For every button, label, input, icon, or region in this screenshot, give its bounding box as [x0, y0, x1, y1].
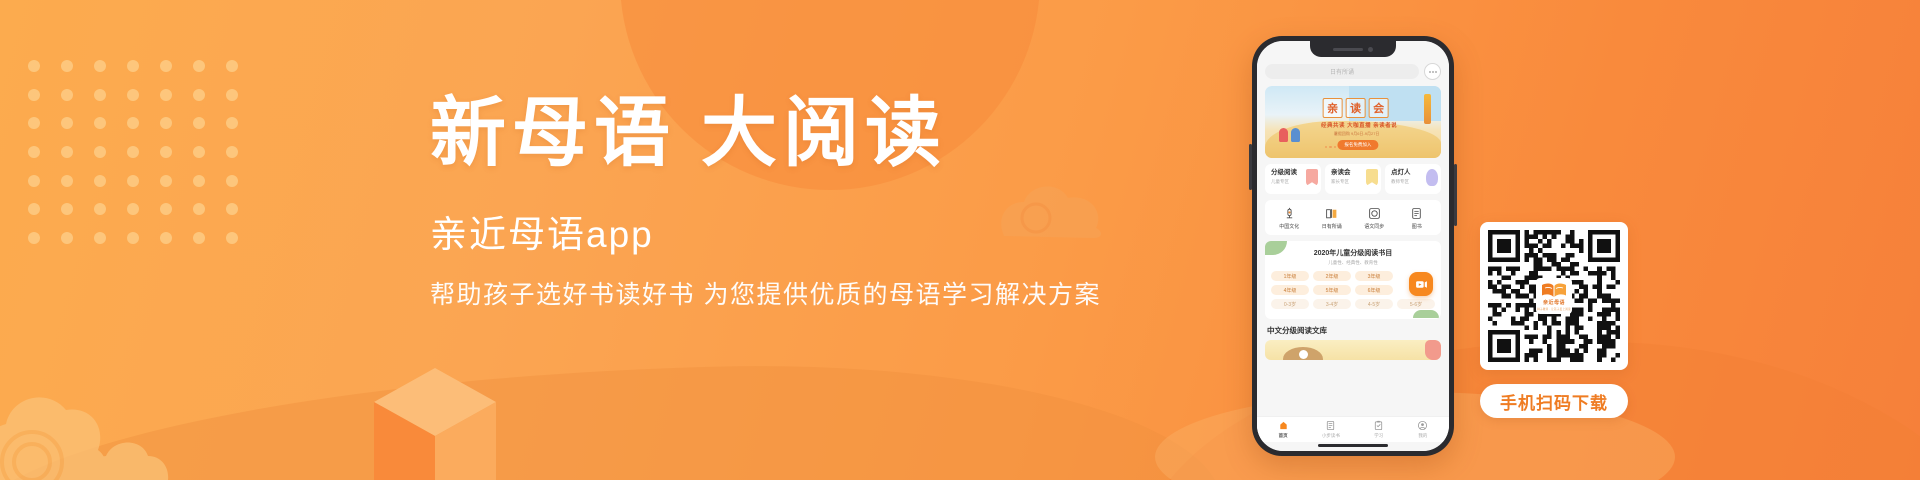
decorative-leaf-bottom — [1413, 310, 1439, 318]
decorative-dot-grid — [18, 52, 248, 252]
promo-banner: 新母语 大阅读 亲近母语app 帮助孩子选好书读好书 为您提供优质的母语学习解决… — [0, 0, 1920, 480]
tab-reading[interactable]: 小步读书 — [1322, 420, 1340, 439]
user-circle-icon — [1417, 420, 1428, 431]
quick-link-daily-recitation[interactable]: 日有所诵 — [1311, 206, 1354, 230]
decorative-wave — [0, 354, 1222, 480]
quick-link-label: 图书 — [1412, 223, 1422, 230]
grade-chip[interactable]: 2年级 — [1313, 271, 1351, 281]
carousel-dots[interactable] — [1325, 146, 1337, 149]
hero-cta-button[interactable]: 报名免费加入 — [1337, 140, 1378, 150]
subheadline: 亲近母语app — [430, 216, 1210, 253]
hero-banner[interactable]: 亲 读 会 经典共读 大咖直播 亲读者说 暑假团购 9月6日-9月27日 报名免… — [1265, 86, 1441, 158]
library-illustration-dot — [1299, 350, 1308, 359]
open-book-icon — [1325, 206, 1339, 220]
age-chip[interactable]: 0-3岁 — [1271, 299, 1309, 309]
tab-label: 小步读书 — [1322, 433, 1340, 439]
tab-study[interactable]: 学习 — [1373, 420, 1384, 439]
home-indicator — [1318, 444, 1388, 447]
tagline: 帮助孩子选好书读好书 为您提供优质的母语学习解决方案 — [430, 283, 1210, 308]
cloud-icon — [0, 366, 202, 480]
zone-card-parent-club[interactable]: 亲读会 家长专区 — [1325, 164, 1381, 194]
quick-link-chinese-culture[interactable]: 中国文化 — [1268, 206, 1311, 230]
hero-char-3: 会 — [1369, 98, 1389, 118]
hero-subtitle: 经典共读 大咖直播 亲读者说 — [1321, 121, 1397, 129]
zone-card-graded-reading[interactable]: 分级阅读 儿童专区 — [1265, 164, 1321, 194]
age-chip[interactable]: 5-6岁 — [1397, 299, 1435, 309]
headline: 新母语 大阅读 — [430, 96, 1210, 172]
list-icon — [1325, 420, 1336, 431]
grade-chip[interactable]: 3年级 — [1355, 271, 1393, 281]
speaker-grille — [1333, 48, 1363, 51]
grade-chip[interactable]: 6年级 — [1355, 285, 1393, 295]
age-chip[interactable]: 4-5岁 — [1355, 299, 1393, 309]
decorative-cube — [370, 360, 500, 480]
phone-notch — [1310, 41, 1396, 57]
app-screen: 日有所诵 亲 读 会 经典共读 大咖直播 亲读者说 — [1257, 41, 1449, 451]
library-card[interactable] — [1265, 340, 1441, 360]
tab-label: 我的 — [1418, 433, 1427, 439]
booklist-card: 2020年儿童分级阅读书目 儿童性、经典性、教育性 1年级 2年级 3年级 4年… — [1265, 241, 1441, 319]
qr-logo-title: 亲近母语 — [1543, 299, 1565, 306]
qr-logo: 亲近母语 种子教师 · 让孩子爱上阅读 — [1536, 278, 1572, 314]
person-purple-icon — [1426, 169, 1438, 186]
phone-screen: 日有所诵 亲 读 会 经典共读 大咖直播 亲读者说 — [1257, 41, 1449, 451]
checklist-icon — [1373, 420, 1384, 431]
tab-label: 学习 — [1374, 433, 1383, 439]
hero-detail: 暑假团购 9月6日-9月27日 — [1334, 131, 1380, 137]
quick-link-textbook-sync[interactable]: 语文同步 — [1353, 206, 1396, 230]
phone-mockup: 日有所诵 亲 读 会 经典共读 大咖直播 亲读者说 — [1252, 36, 1454, 456]
grade-chip[interactable]: 5年级 — [1313, 285, 1351, 295]
search-row: 日有所诵 — [1265, 63, 1441, 80]
age-chip[interactable]: 3-4岁 — [1313, 299, 1351, 309]
quick-link-label: 语文同步 — [1364, 223, 1384, 230]
qr-card[interactable]: 亲近母语 种子教师 · 让孩子爱上阅读 — [1480, 222, 1628, 370]
quick-link-books[interactable]: 图书 — [1396, 206, 1439, 230]
hero-ribbon — [1424, 94, 1431, 124]
grade-chip[interactable]: 1年级 — [1271, 271, 1309, 281]
grade-chips: 1年级 2年级 3年级 4年级 5年级 6年级 0-3岁 — [1271, 271, 1435, 309]
qr-logo-subtitle: 种子教师 · 让孩子爱上阅读 — [1537, 307, 1571, 311]
quick-link-label: 日有所诵 — [1322, 223, 1342, 230]
hero-kids-illustration — [1279, 128, 1300, 142]
more-horizontal-icon[interactable] — [1424, 63, 1441, 80]
lantern-icon — [1282, 206, 1296, 220]
quick-links-row: 中国文化 日有所诵 语文同步 — [1265, 200, 1441, 235]
grade-chip[interactable]: 4年级 — [1271, 285, 1309, 295]
book-icon — [1410, 206, 1424, 220]
circle-disc-icon — [1367, 206, 1381, 220]
booklist-subtitle: 儿童性、经典性、教育性 — [1271, 260, 1435, 266]
hero-title: 亲 读 会 — [1323, 98, 1389, 118]
home-icon — [1278, 420, 1289, 431]
library-illustration-accent — [1425, 340, 1441, 360]
front-camera — [1368, 47, 1373, 52]
booklist-title: 2020年儿童分级阅读书目 — [1271, 248, 1435, 258]
tab-home[interactable]: 首页 — [1278, 420, 1289, 439]
video-play-icon[interactable] — [1409, 272, 1433, 296]
library-title: 中文分级阅读文库 — [1267, 325, 1441, 336]
bottom-tab-bar: 首页 小步读书 学习 我的 — [1257, 416, 1449, 442]
hero-char-1: 亲 — [1323, 98, 1343, 118]
tab-profile[interactable]: 我的 — [1417, 420, 1428, 439]
tab-label: 首页 — [1279, 433, 1288, 439]
download-button[interactable]: 手机扫码下载 — [1480, 384, 1628, 418]
quick-link-label: 中国文化 — [1279, 223, 1299, 230]
copy-block: 新母语 大阅读 亲近母语app 帮助孩子选好书读好书 为您提供优质的母语学习解决… — [430, 96, 1210, 308]
zone-card-teacher[interactable]: 点灯人 教师专区 — [1385, 164, 1441, 194]
zone-cards: 分级阅读 儿童专区 亲读会 家长专区 点灯人 教师专区 — [1265, 164, 1441, 194]
book-logo-icon — [1541, 282, 1567, 298]
search-input[interactable]: 日有所诵 — [1265, 64, 1419, 79]
hero-char-2: 读 — [1346, 98, 1366, 118]
qr-block: 亲近母语 种子教师 · 让孩子爱上阅读 手机扫码下载 — [1480, 222, 1628, 418]
